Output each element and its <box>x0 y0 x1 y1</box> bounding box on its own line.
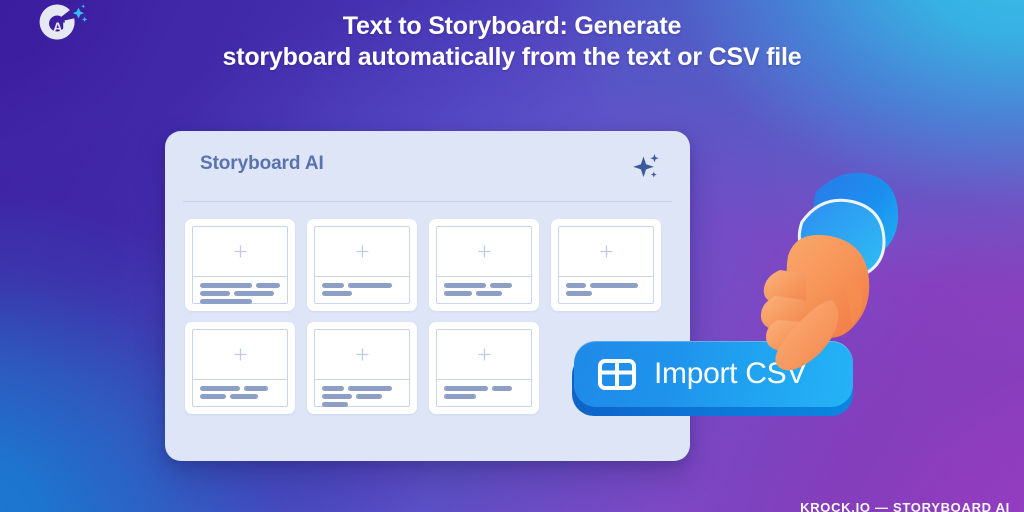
plus-icon <box>477 347 492 362</box>
cell-text-line-row <box>444 394 524 399</box>
cell-thumbnail-placeholder[interactable] <box>437 330 531 380</box>
cell-text-bar <box>490 283 512 288</box>
sparkle-icon[interactable] <box>633 151 661 181</box>
cell-thumbnail-placeholder[interactable] <box>193 330 287 380</box>
cell-text-bar <box>590 283 638 288</box>
watermark: KROCK.IO — STORYBOARD AI <box>800 500 1010 512</box>
plus-icon <box>599 244 614 259</box>
cell-text-bar <box>322 394 352 399</box>
cell-text-bar <box>444 394 476 399</box>
plus-icon <box>233 244 248 259</box>
cell-text-line-row <box>322 291 402 296</box>
cell-text-line-row <box>322 394 402 399</box>
storyboard-cell[interactable] <box>429 322 539 414</box>
plus-icon <box>233 347 248 362</box>
cell-text-bar <box>348 283 392 288</box>
cell-thumbnail-placeholder[interactable] <box>559 227 653 277</box>
cell-text-lines <box>437 380 531 406</box>
storyboard-cell[interactable] <box>185 219 295 311</box>
cell-text-line-row <box>566 291 646 296</box>
cell-text-bar <box>200 386 240 391</box>
app-header: Storyboard AI <box>165 131 690 203</box>
cell-thumbnail-placeholder[interactable] <box>315 330 409 380</box>
cell-text-line-row <box>444 283 524 288</box>
plus-icon <box>355 244 370 259</box>
cell-text-lines <box>193 277 287 304</box>
cell-text-line-row <box>444 291 524 296</box>
storyboard-cell[interactable] <box>185 322 295 414</box>
promo-banner: AI Text to Storyboard: Generate storyboa… <box>0 0 1024 512</box>
cell-inner <box>192 226 288 304</box>
cell-thumbnail-placeholder[interactable] <box>193 227 287 277</box>
cell-inner <box>558 226 654 304</box>
cell-text-bar <box>322 402 348 407</box>
cell-text-lines <box>559 277 653 303</box>
cell-inner <box>192 329 288 407</box>
cell-text-line-row <box>200 394 280 399</box>
storyboard-cell[interactable] <box>551 219 661 311</box>
headline-line-1: Text to Storyboard: Generate <box>0 11 1024 42</box>
cell-inner <box>314 329 410 407</box>
cell-text-bar <box>322 386 344 391</box>
cell-text-line-row <box>200 386 280 391</box>
cell-inner <box>436 226 532 304</box>
cell-text-bar <box>476 291 502 296</box>
cell-text-bar <box>492 386 512 391</box>
cell-text-bar <box>200 394 226 399</box>
cell-text-bar <box>444 291 472 296</box>
cell-text-bar <box>566 291 592 296</box>
plus-icon <box>477 244 492 259</box>
cell-text-bar <box>566 283 586 288</box>
cell-text-bar <box>348 386 392 391</box>
cell-text-line-row <box>322 402 402 407</box>
cell-text-line-row <box>444 386 524 391</box>
storyboard-cell[interactable] <box>307 219 417 311</box>
headline: Text to Storyboard: Generate storyboard … <box>0 11 1024 73</box>
table-grid-icon <box>598 358 636 391</box>
storyboard-cell[interactable] <box>429 219 539 311</box>
cell-text-bar <box>322 283 344 288</box>
cell-text-bar <box>322 291 352 296</box>
cell-text-bar <box>230 394 258 399</box>
cell-text-line-row <box>322 386 402 391</box>
cell-text-bar <box>244 386 268 391</box>
cell-inner <box>314 226 410 304</box>
cell-text-bar <box>444 283 486 288</box>
storyboard-cell[interactable] <box>307 322 417 414</box>
cell-inner <box>436 329 532 407</box>
headline-line-2: storyboard automatically from the text o… <box>0 42 1024 73</box>
cell-thumbnail-placeholder[interactable] <box>437 227 531 277</box>
pointing-hand-icon <box>744 160 914 385</box>
cell-thumbnail-placeholder[interactable] <box>315 227 409 277</box>
cell-text-bar <box>356 394 382 399</box>
cell-text-bar <box>234 291 274 296</box>
cell-text-lines <box>315 277 409 303</box>
cell-text-bar <box>256 283 280 288</box>
cell-text-bar <box>200 291 230 296</box>
cell-text-line-row <box>200 291 280 296</box>
cell-text-bar <box>200 299 252 304</box>
cell-text-line-row <box>200 283 280 288</box>
header-divider <box>183 201 672 202</box>
plus-icon <box>355 347 370 362</box>
cell-text-lines <box>193 380 287 406</box>
cell-text-line-row <box>200 299 280 304</box>
app-title: Storyboard AI <box>200 153 324 175</box>
cell-text-line-row <box>322 283 402 288</box>
cell-text-bar <box>200 283 252 288</box>
cell-text-lines <box>437 277 531 303</box>
cell-text-line-row <box>566 283 646 288</box>
cell-text-lines <box>315 380 409 407</box>
cell-text-bar <box>444 386 488 391</box>
